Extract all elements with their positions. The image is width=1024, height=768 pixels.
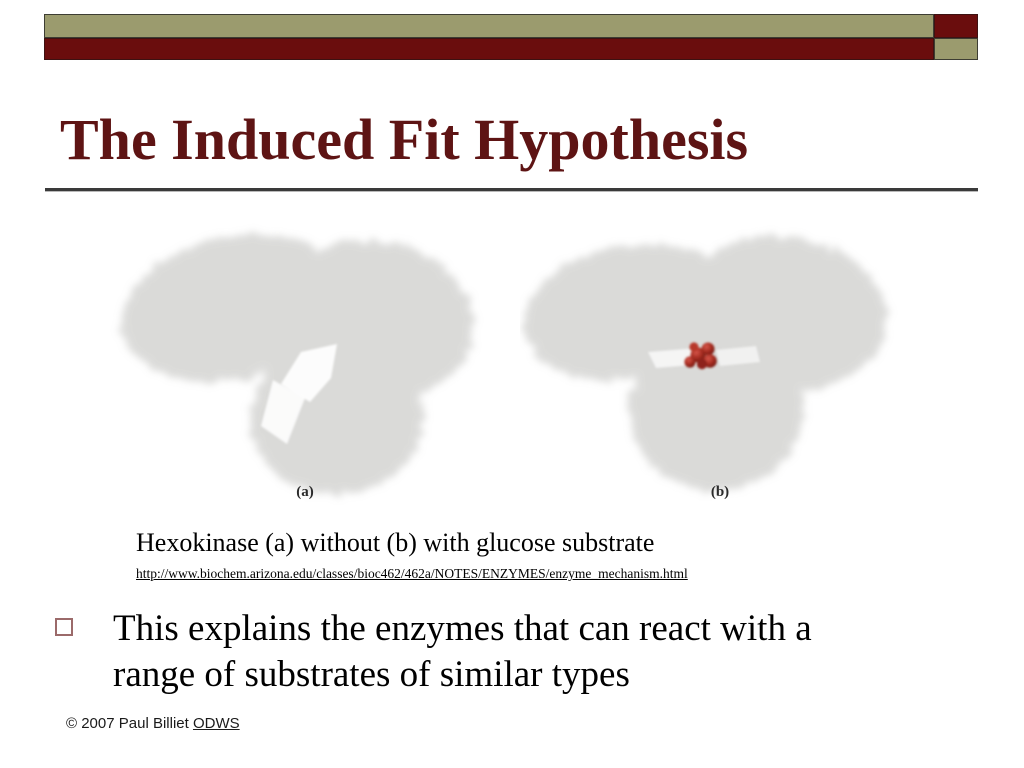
slide-title: The Induced Fit Hypothesis <box>60 110 970 171</box>
body-bullet-item: This explains the enzymes that can react… <box>55 606 955 699</box>
title-divider-rule <box>45 188 978 192</box>
header-banner <box>44 14 978 60</box>
panel-a-label: (a) <box>105 484 505 501</box>
hollow-square-bullet-icon <box>55 618 73 636</box>
figure-panel-a: (a) <box>105 212 505 512</box>
footer-odws-link[interactable]: ODWS <box>193 715 240 732</box>
body-bullet-text: This explains the enzymes that can react… <box>113 606 903 699</box>
panel-b-label: (b) <box>520 484 920 501</box>
figure-citation-link[interactable]: http://www.biochem.arizona.edu/classes/b… <box>136 566 688 582</box>
footer-copyright: © 2007 Paul Billiet ODWS <box>66 715 240 732</box>
banner-khaki-corner-block <box>934 38 978 60</box>
hexokinase-open-image <box>105 212 505 512</box>
slide-canvas: The Induced Fit Hypothesis <box>0 0 1024 768</box>
banner-khaki-top-bar <box>44 14 934 38</box>
banner-maroon-corner-block <box>934 14 978 38</box>
figure-caption: Hexokinase (a) without (b) with glucose … <box>136 528 654 558</box>
figure-panel-b: (b) <box>520 212 920 512</box>
footer-copyright-text: © 2007 Paul Billiet <box>66 715 193 732</box>
hexokinase-figure: (a) <box>95 212 930 512</box>
banner-maroon-bottom-bar <box>44 38 934 60</box>
hexokinase-closed-image <box>520 212 920 512</box>
